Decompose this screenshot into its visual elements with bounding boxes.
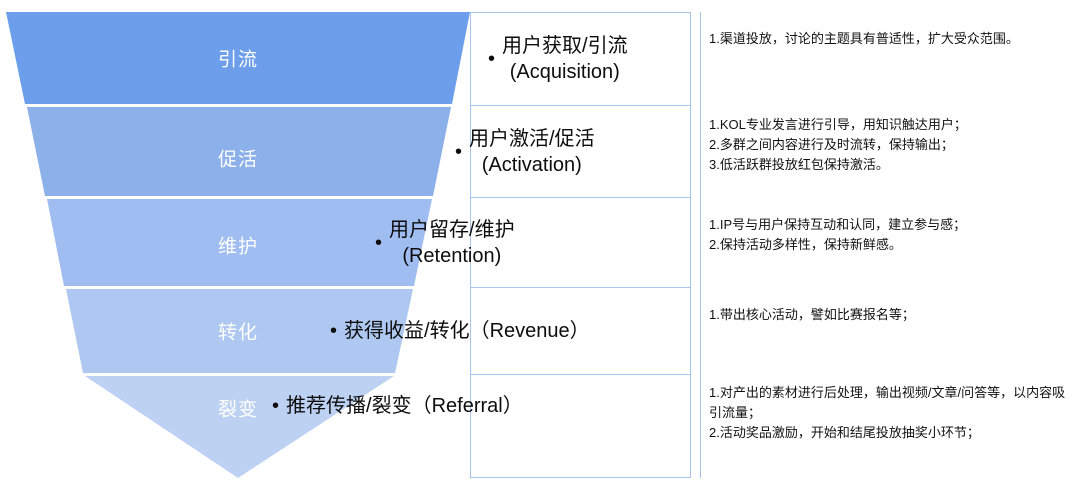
funnel-label-activation: 促活 (218, 145, 258, 172)
funnel-label-revenue: 转化 (218, 318, 258, 345)
stage-details-text: 1.带出核心活动，譬如比赛报名等； (709, 305, 915, 325)
stage-details-text: 1.对产出的素材进行后处理，输出视频/文章/问答等，以内容吸引流量； 2.活动奖… (709, 383, 1074, 443)
bullet-icon: • (272, 393, 279, 419)
stage-title-cn: 用户获取/引流 (502, 35, 628, 57)
stage-details-retention[interactable]: 1.IP号与用户保持互动和认同，建立参与感； 2.保持活动多样性，保持新鲜感。 (709, 197, 1074, 287)
bullet-icon: • (488, 46, 495, 72)
stage-title-acquisition[interactable]: • 用户获取/引流 (Acquisition) (478, 12, 693, 105)
stage-title-text: 获得收益/转化（Revenue） (344, 318, 590, 344)
bullet-icon: • (455, 139, 462, 165)
stage-title-cn: 用户激活/促活 (469, 128, 595, 150)
stage-title-referral[interactable]: • 推荐传播/裂变（Referral） (272, 375, 693, 478)
right-column-rule (700, 12, 701, 478)
stage-title-activation[interactable]: • 用户激活/促活 (Activation) (455, 106, 693, 197)
stage-title-retention[interactable]: • 用户留存/维护 (Retention) (375, 198, 693, 287)
stage-title-en: (Retention) (389, 243, 515, 269)
stage-title-text: 推荐传播/裂变（Referral） (286, 393, 523, 419)
funnel-label-referral: 裂变 (218, 395, 258, 422)
stage-details-text: 1.KOL专业发言进行引导，用知识触达用户； 2.多群之间内容进行及时流转，保持… (709, 115, 967, 175)
stage-title-cn: 获得收益/转化 (344, 320, 470, 342)
stage-title-cn: 用户留存/维护 (389, 219, 515, 241)
stage-details-acquisition[interactable]: 1.渠道投放，讨论的主题具有普适性，扩大受众范围。 (709, 12, 1074, 105)
stage-details-revenue[interactable]: 1.带出核心活动，譬如比赛报名等； (709, 287, 1074, 374)
stage-details-activation[interactable]: 1.KOL专业发言进行引导，用知识触达用户； 2.多群之间内容进行及时流转，保持… (709, 105, 1074, 197)
stage-details-referral[interactable]: 1.对产出的素材进行后处理，输出视频/文章/问答等，以内容吸引流量； 2.活动奖… (709, 374, 1074, 478)
aarrr-funnel-diagram: 引流 促活 维护 转化 裂变 • 用户获取/引流 (Acquisition) •… (0, 0, 1080, 496)
stage-title-text: 用户获取/引流 (Acquisition) (502, 33, 628, 85)
stage-title-en: (Activation) (469, 152, 595, 178)
stage-title-en: (Acquisition) (502, 59, 628, 85)
bullet-icon: • (375, 230, 382, 256)
stage-title-cn: 推荐传播/裂变 (286, 395, 412, 417)
stage-title-en: （Referral） (412, 395, 523, 417)
stage-details-text: 1.渠道投放，讨论的主题具有普适性，扩大受众范围。 (709, 29, 1019, 49)
stage-title-text: 用户激活/促活 (Activation) (469, 126, 595, 178)
funnel-label-retention: 维护 (218, 232, 258, 259)
stage-title-revenue[interactable]: • 获得收益/转化（Revenue） (330, 288, 693, 374)
funnel-label-acquisition: 引流 (218, 45, 258, 72)
bullet-icon: • (330, 318, 337, 344)
stage-title-text: 用户留存/维护 (Retention) (389, 217, 515, 269)
stage-title-en: （Revenue） (470, 320, 590, 342)
stage-details-text: 1.IP号与用户保持互动和认同，建立参与感； 2.保持活动多样性，保持新鲜感。 (709, 215, 966, 255)
